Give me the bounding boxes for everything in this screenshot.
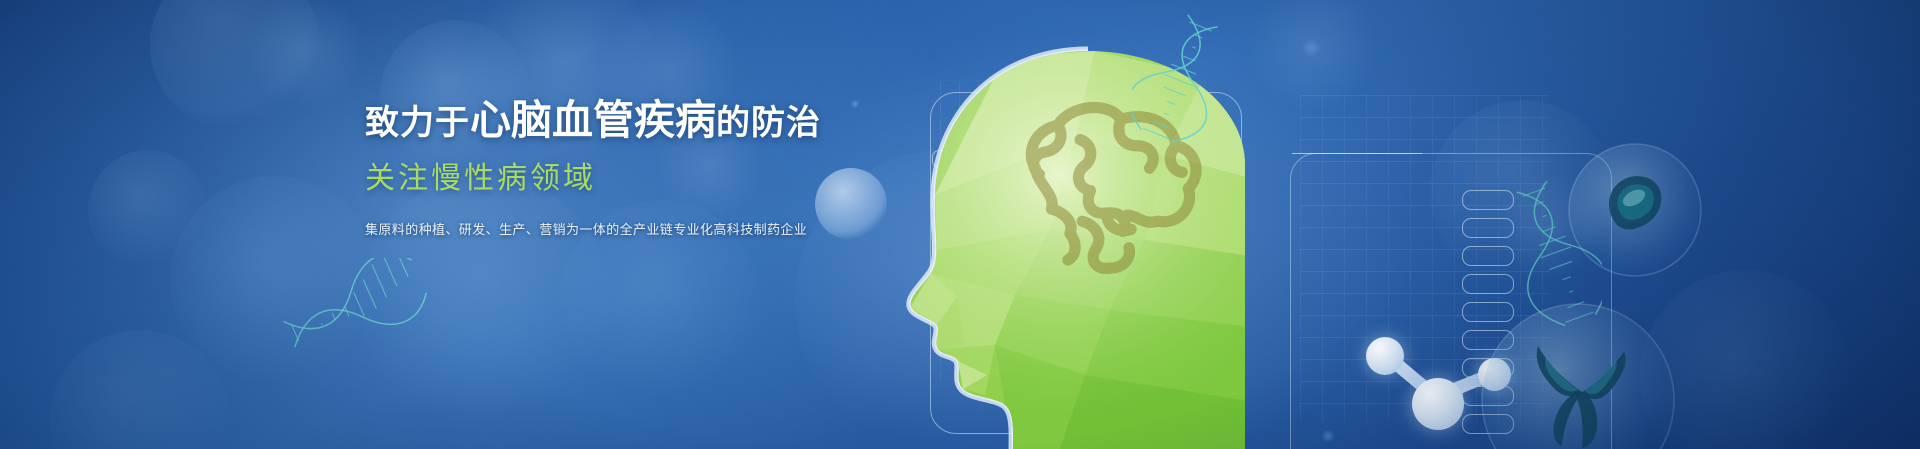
banner-tagline: 集原料的种植、研发、生产、营销为一体的全产业链专业化高科技制药企业 bbox=[365, 219, 795, 238]
hero-banner: 致力于心脑血管疾病的防治 关注慢性病领域 集原料的种植、研发、生产、营销为一体的… bbox=[0, 0, 1920, 449]
vignette-overlay bbox=[0, 0, 1920, 449]
banner-headline: 致力于心脑血管疾病的防治 bbox=[365, 96, 795, 144]
headline-prefix: 致力于 bbox=[365, 104, 470, 142]
headline-emphasis: 心脑血管疾病 bbox=[470, 97, 716, 143]
banner-subheadline: 关注慢性病领域 bbox=[365, 153, 795, 197]
banner-text-block: 致力于心脑血管疾病的防治 关注慢性病领域 集原料的种植、研发、生产、营销为一体的… bbox=[365, 96, 795, 238]
headline-suffix: 的防治 bbox=[716, 104, 821, 142]
